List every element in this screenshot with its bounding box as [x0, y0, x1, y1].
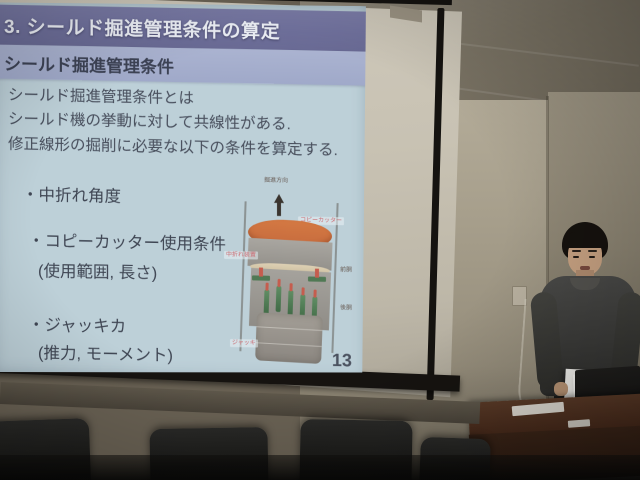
diagram-label-jack: ジャッキ	[230, 339, 258, 348]
slide-bullet-1: ・中折れ角度	[22, 181, 121, 207]
presenter-eye	[573, 256, 579, 258]
thrust-jack	[288, 290, 294, 316]
diagram-label-front-body: 前胴	[340, 267, 352, 273]
shield-machine-diagram: 掘進方向 コピーカッター 中折れ装置 前胴 後胴	[226, 171, 366, 374]
slide-bullet-3: ・ジャッキカ	[28, 311, 126, 337]
ground-line-left	[239, 201, 246, 351]
segment-ring	[255, 312, 323, 364]
presenter-eyebrow	[572, 250, 581, 252]
articulation-jack-left	[252, 275, 270, 280]
diagram-label-rear-body: 後胴	[340, 305, 352, 311]
slide-body-line-2: シールド機の挙動に対して共線性がある.	[8, 107, 291, 134]
slide-title: 3. シールド掘進管理条件の算定	[0, 11, 280, 43]
thrust-jack	[276, 286, 282, 312]
articulation-jack-right	[308, 277, 326, 282]
projected-slide: 3. シールド掘進管理条件の算定 シールド掘進管理条件 シールド掘進管理条件とは…	[0, 0, 366, 380]
slide-bullet-3-sub: (推力, モーメント)	[38, 339, 173, 366]
slide-page-number: 13	[332, 350, 352, 371]
presenter-left-hand	[554, 382, 568, 396]
presentation-room-scene: 3. シールド掘進管理条件の算定 シールド掘進管理条件 シールド掘進管理条件とは…	[0, 0, 640, 480]
foreground-shadow	[0, 455, 640, 480]
slide-body-line-3: 修正線形の掘削に必要な以下の条件を算定する.	[8, 132, 338, 160]
ground-line-right	[331, 203, 338, 353]
slide-subtitle-band: シールド掘進管理条件	[0, 44, 366, 85]
slide-subtitle: シールド掘進管理条件	[0, 49, 174, 77]
projection-screen: 3. シールド掘進管理条件の算定 シールド掘進管理条件 シールド掘進管理条件とは…	[0, 0, 462, 414]
slide-title-band: 3. シールド掘進管理条件の算定	[0, 4, 366, 51]
diagram-label-articulation: 中折れ装置	[224, 251, 258, 260]
diagram-label-direction: 掘進方向	[264, 178, 288, 184]
presenter-fringe	[564, 232, 606, 248]
slide-body-line-1: シールド掘進管理条件とは	[8, 83, 194, 109]
direction-arrow-stem-icon	[277, 202, 281, 216]
slide-bullet-2: ・コピーカッター使用条件	[28, 227, 226, 255]
presenter-eyebrow	[588, 250, 597, 252]
presenter-eye	[589, 256, 595, 258]
slide-bullet-2-sub: (使用範囲, 長さ)	[38, 257, 157, 283]
